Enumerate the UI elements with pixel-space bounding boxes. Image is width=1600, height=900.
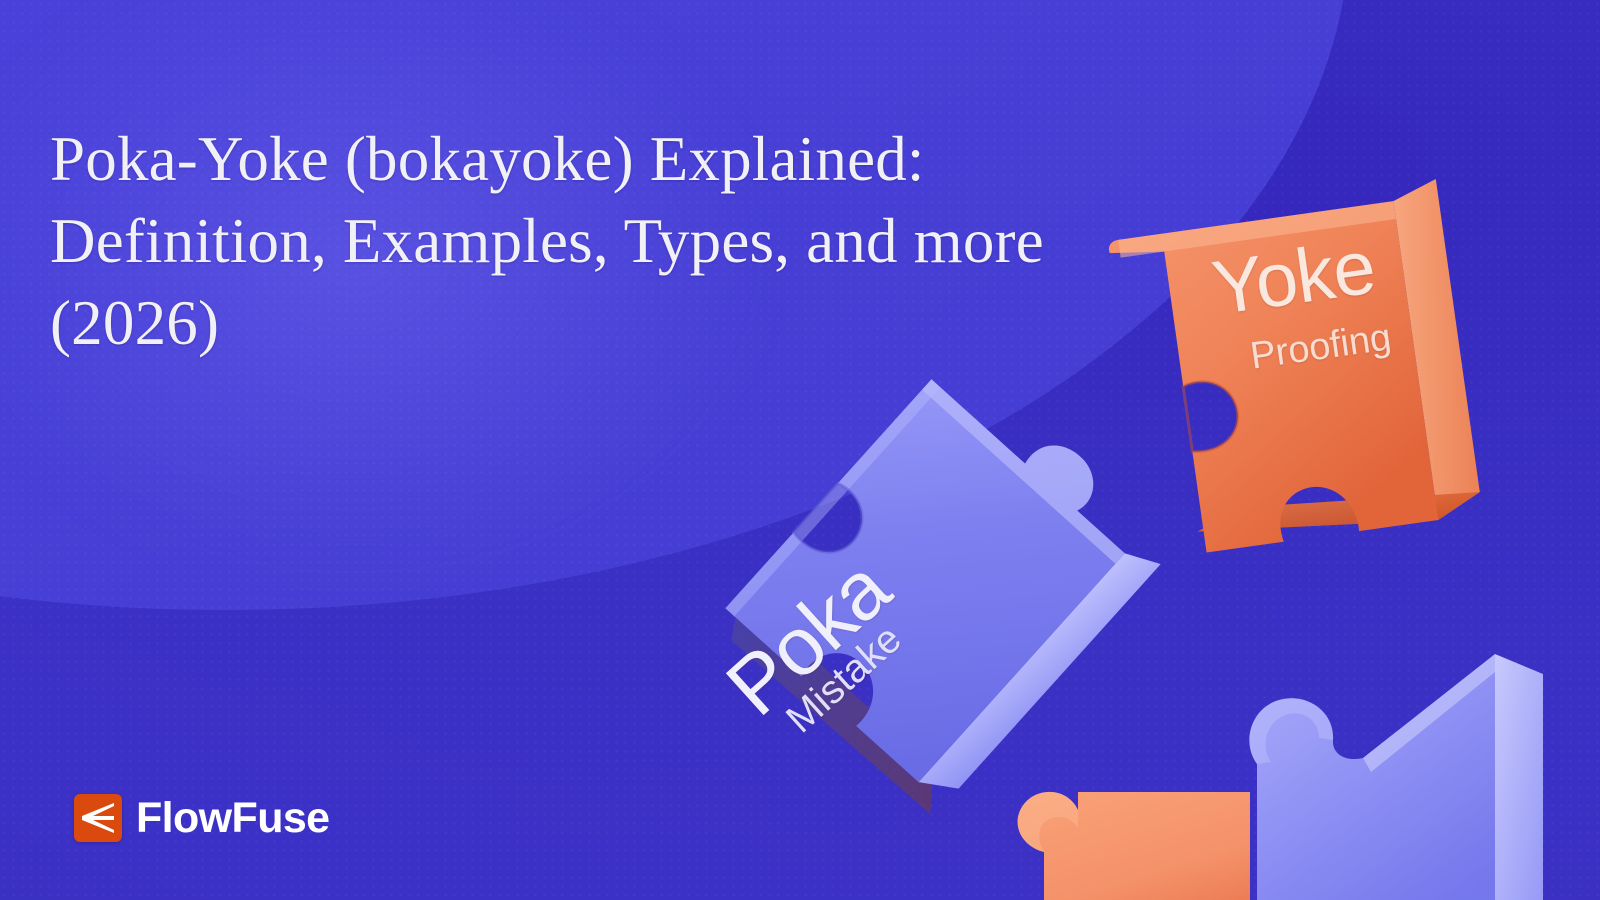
- flowfuse-mark-icon: [74, 794, 122, 842]
- hero-banner: Poka-Yoke (bokayoke) Explained: Definiti…: [0, 0, 1600, 900]
- page-title: Poka-Yoke (bokayoke) Explained: Definiti…: [50, 118, 1110, 364]
- flowfuse-wordmark: FlowFuse: [136, 797, 330, 840]
- flowfuse-logo[interactable]: FlowFuse: [74, 794, 330, 842]
